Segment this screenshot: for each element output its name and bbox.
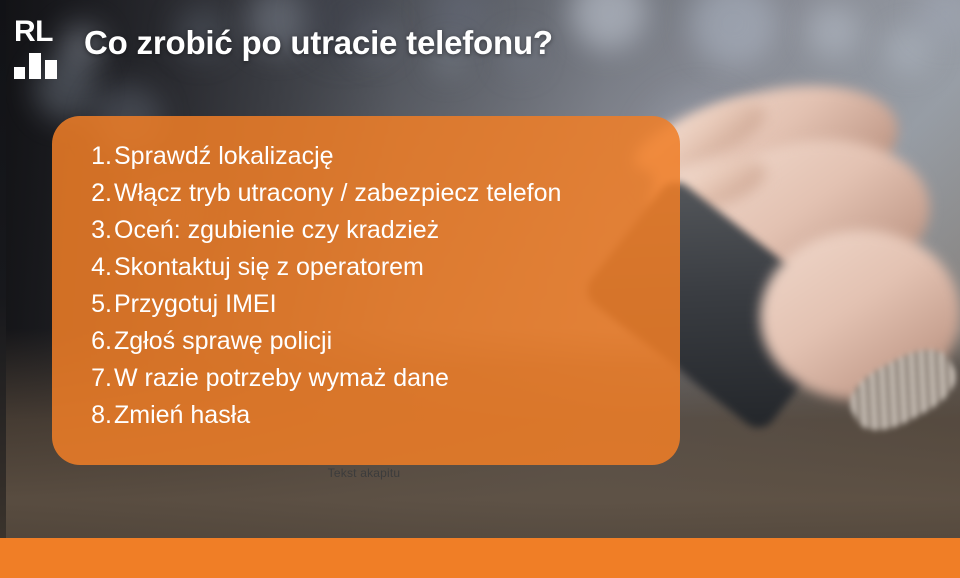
list-item-number: 1. [78,138,114,175]
list-item-label: W razie potrzeby wymaż dane [114,360,654,397]
list-item: 3. Oceń: zgubienie czy kradzież [78,212,654,249]
bar-chart-logo-icon [14,51,70,79]
list-item-number: 5. [78,286,114,323]
list-item-number: 6. [78,323,114,360]
steps-list: 1. Sprawdź lokalizację 2. Włącz tryb utr… [78,138,654,434]
list-item: 7. W razie potrzeby wymaż dane [78,360,654,397]
list-item-number: 7. [78,360,114,397]
page-title: Co zrobić po utracie telefonu? [84,24,553,62]
list-item: 8. Zmień hasła [78,397,654,434]
logo-text: RL [14,18,70,46]
brand-logo: RL [14,18,70,80]
list-item: 6. Zgłoś sprawę policji [78,323,654,360]
bottom-accent-bar [0,538,960,578]
list-item-label: Skontaktuj się z operatorem [114,249,654,286]
list-item-label: Zmień hasła [114,397,654,434]
list-item-number: 3. [78,212,114,249]
logo-bar-1 [14,67,25,79]
slide-canvas: RL Co zrobić po utracie telefonu? 1. Spr… [0,0,960,578]
list-item-number: 2. [78,175,114,212]
list-item: 1. Sprawdź lokalizację [78,138,654,175]
list-item-label: Sprawdź lokalizację [114,138,654,175]
logo-bar-2 [29,53,41,79]
list-item: 4. Skontaktuj się z operatorem [78,249,654,286]
logo-bar-3 [45,60,57,79]
list-item-label: Zgłoś sprawę policji [114,323,654,360]
list-item-label: Włącz tryb utracony / zabezpiecz telefon [114,175,654,212]
list-item-label: Oceń: zgubienie czy kradzież [114,212,654,249]
list-item-label: Przygotuj IMEI [114,286,654,323]
left-edge-strip [0,0,6,538]
list-item-number: 4. [78,249,114,286]
list-item: 2. Włącz tryb utracony / zabezpiecz tele… [78,175,654,212]
paragraph-caption: Tekst akapitu [0,466,728,480]
list-item: 5. Przygotuj IMEI [78,286,654,323]
list-item-number: 8. [78,397,114,434]
steps-panel: 1. Sprawdź lokalizację 2. Włącz tryb utr… [52,116,680,465]
